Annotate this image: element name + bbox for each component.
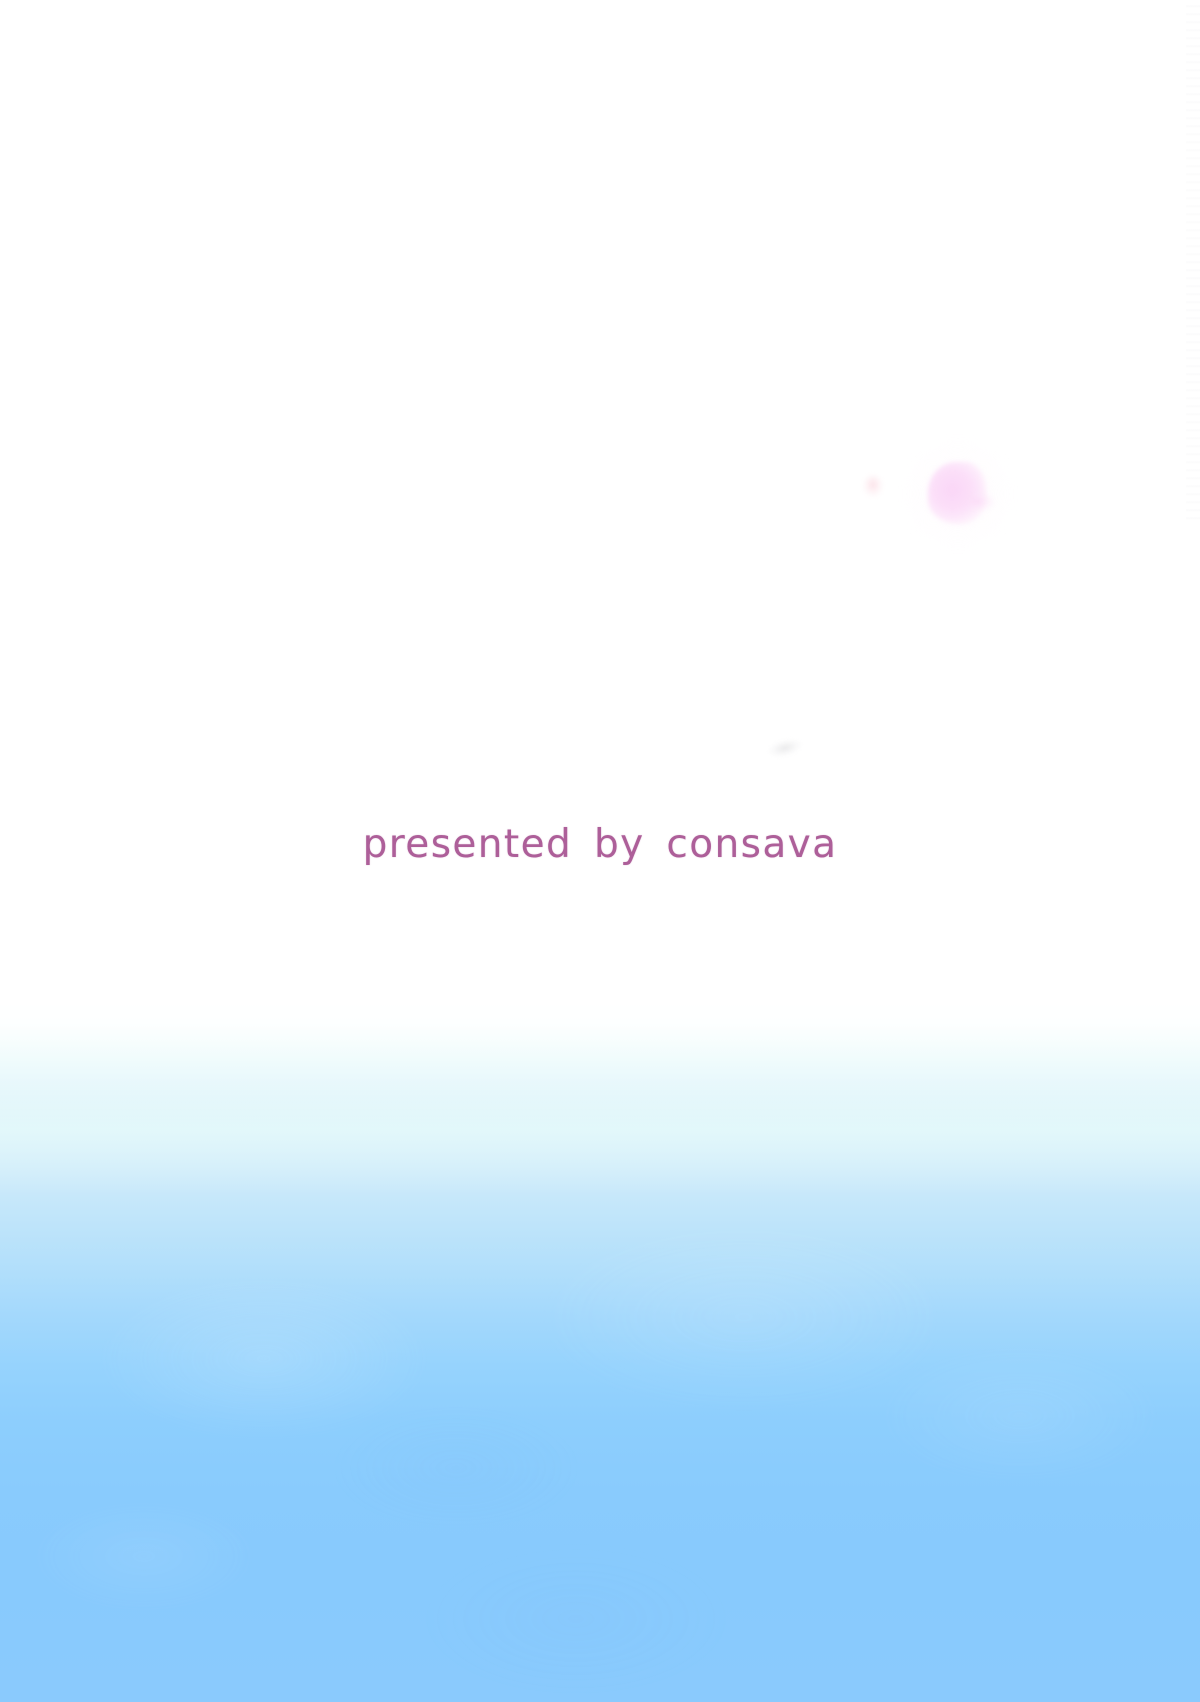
credit-line: presented by consava [0, 824, 1200, 867]
pink-speck-icon [863, 475, 883, 497]
page-edge-noise [1186, 0, 1200, 520]
grey-smudge-mark [767, 736, 804, 760]
sky-gradient [0, 1002, 1200, 1702]
back-cover-page: presented by consava [0, 0, 1200, 1702]
